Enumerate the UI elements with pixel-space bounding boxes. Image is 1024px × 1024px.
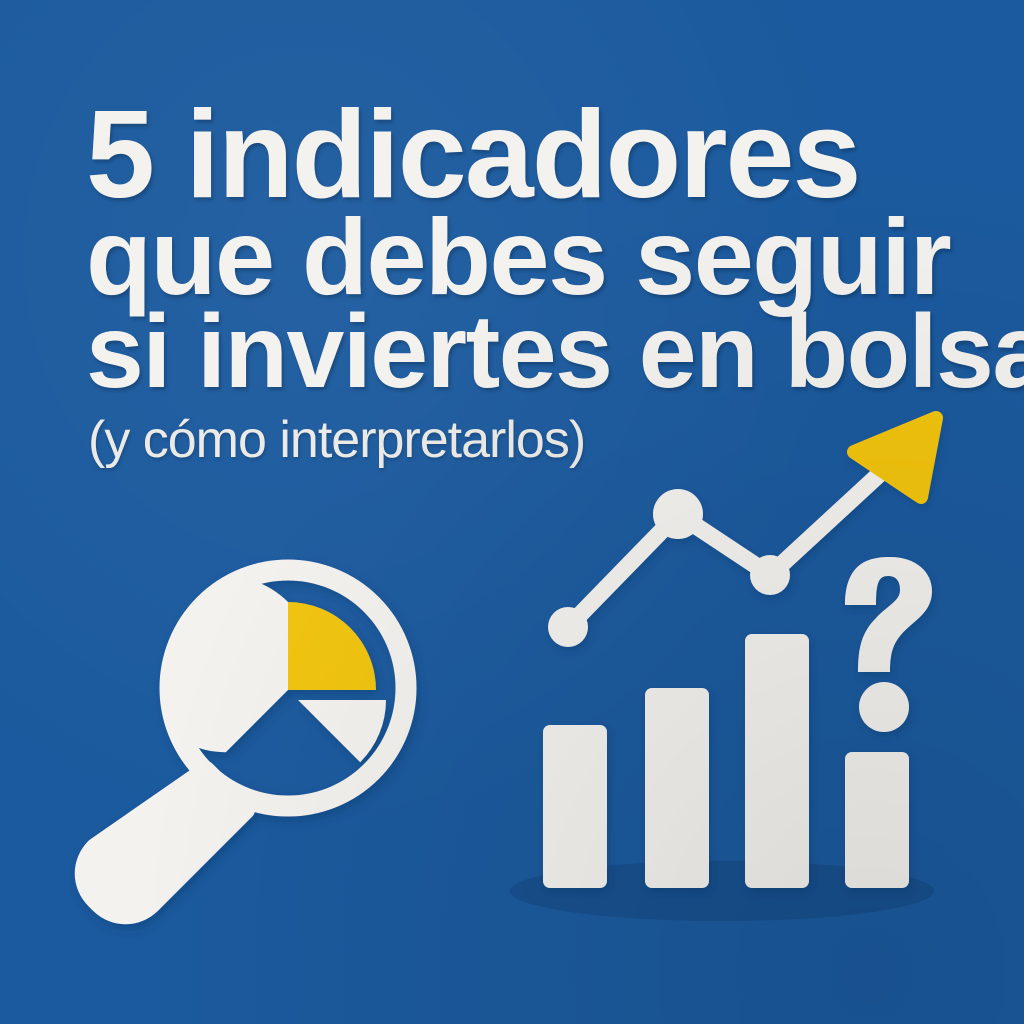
question-mark-dot <box>859 682 909 732</box>
question-mark-hook <box>845 557 932 672</box>
pie-slice-exploded <box>298 700 386 762</box>
bar-1 <box>543 725 607 888</box>
magnifying-glass-icon <box>84 570 406 915</box>
trend-line-chart <box>548 418 936 647</box>
subtitle-text: (y cómo interpretarlos) <box>88 410 585 470</box>
trend-point-2 <box>653 489 703 539</box>
trend-point-1 <box>548 607 588 647</box>
question-mark-icon <box>845 557 932 732</box>
trend-point-3 <box>750 555 790 595</box>
bar-4 <box>845 752 909 888</box>
poster-canvas: 5 indicadores que debes seguir si invier… <box>0 0 1024 1024</box>
bar-3 <box>745 634 809 888</box>
bar-chart <box>543 634 909 888</box>
headline-line-3: si inviertes en bolsa <box>86 300 1024 404</box>
pie-slice-highlight <box>288 602 376 690</box>
bar-2 <box>645 688 709 888</box>
